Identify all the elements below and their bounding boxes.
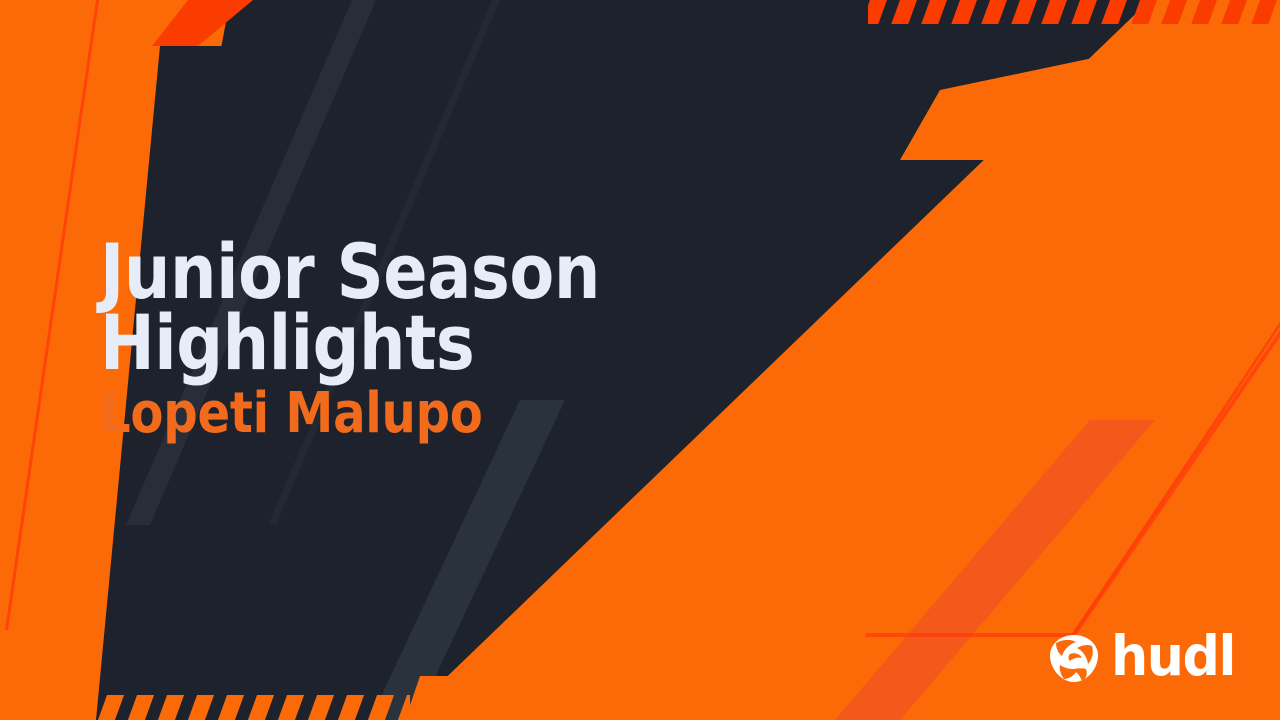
hudl-mark-shape bbox=[1050, 635, 1098, 682]
bottom-left-stripe-group bbox=[0, 695, 410, 720]
hudl-wordmark: hudl bbox=[1111, 629, 1235, 684]
stripes-top-right-orange-section bbox=[1168, 0, 1280, 24]
title-block: Junior Season Highlights Lopeti Malupo bbox=[100, 236, 800, 444]
stripes-top-right-dark-section bbox=[868, 0, 1168, 24]
athlete-name: Lopeti Malupo bbox=[100, 385, 702, 444]
top-right-stripe-group bbox=[868, 0, 1280, 24]
highlight-title-card: Junior Season Highlights Lopeti Malupo h… bbox=[0, 0, 1280, 720]
stripes-bottom-left bbox=[0, 695, 410, 720]
page-title: Junior Season Highlights bbox=[100, 236, 702, 379]
hudl-logo: hudl bbox=[1046, 631, 1242, 686]
hudl-logo-mark bbox=[1046, 632, 1102, 686]
